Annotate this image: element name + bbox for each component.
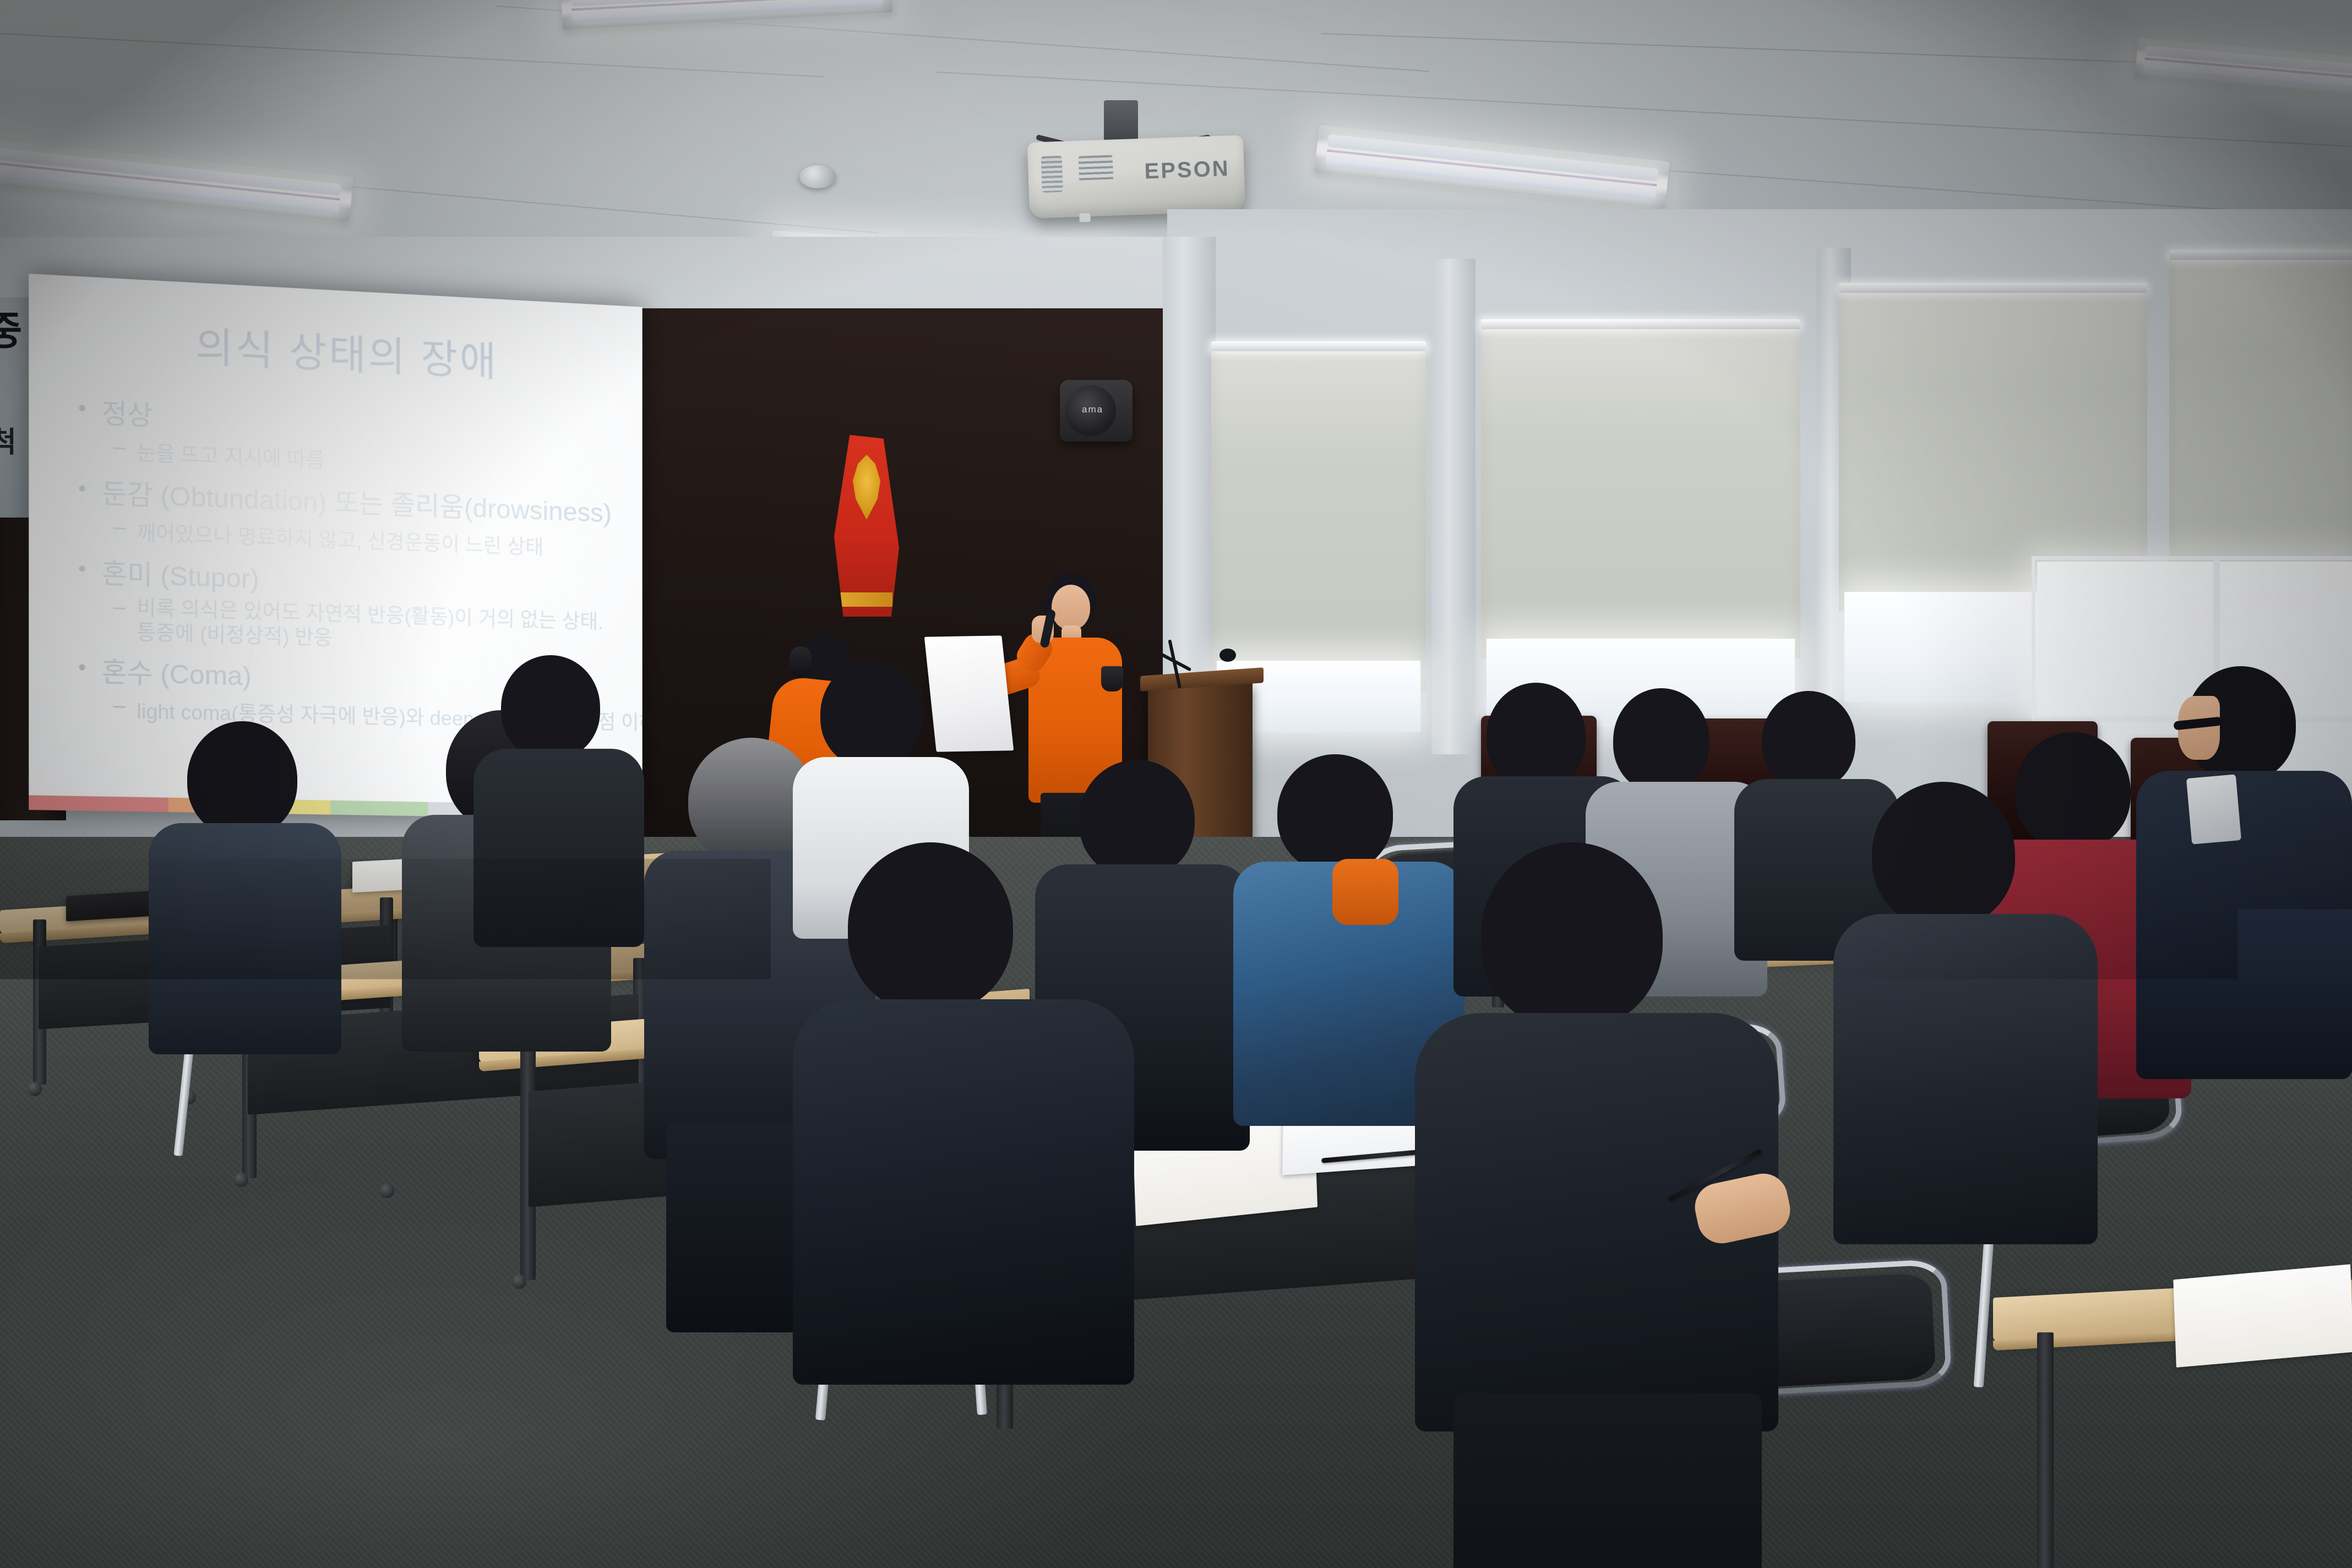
wall-pillar <box>1431 259 1476 754</box>
attendee-head <box>1613 688 1709 793</box>
flag-band <box>840 592 892 607</box>
projector-mount <box>1104 100 1138 141</box>
table-caster[interactable] <box>28 1082 42 1096</box>
attendee-head <box>1762 691 1855 790</box>
window-blind[interactable] <box>2169 259 2352 567</box>
dress-shirt-collar <box>2186 774 2241 844</box>
paper-on-desk[interactable] <box>2173 1264 2352 1368</box>
window-blind[interactable] <box>1481 328 1800 658</box>
attendee-head <box>820 661 922 768</box>
projector-vent-icon <box>1079 155 1114 181</box>
blind-headrail[interactable] <box>1839 283 2147 293</box>
table-caster[interactable] <box>234 1173 248 1187</box>
attendee-head <box>1277 754 1393 873</box>
speaker-brand-label: ama <box>1082 404 1103 415</box>
table-caster[interactable] <box>512 1275 526 1289</box>
slide-title: 의식 상태의 장애 <box>64 307 622 394</box>
attendee-torso <box>149 823 341 1054</box>
attendee-torso <box>2136 771 2352 1079</box>
attendee-head <box>501 655 600 760</box>
attendee-head <box>1481 842 1663 1030</box>
projector-lens-icon <box>1041 156 1063 193</box>
table-leg <box>2037 1332 2054 1568</box>
assistant-ponytail <box>790 646 812 678</box>
blind-headrail[interactable] <box>1481 319 1800 329</box>
attendee-head <box>1872 782 2015 928</box>
podium-microphone-head-icon <box>1219 649 1236 662</box>
projector: EPSON <box>1027 135 1246 219</box>
blind-headrail[interactable] <box>2169 250 2352 260</box>
instructor-handout-paper[interactable] <box>924 635 1014 752</box>
flag-emblem-icon <box>848 455 885 520</box>
attendee-lower-body <box>1453 1393 1762 1568</box>
attendee-torso <box>473 749 644 947</box>
attendee-head <box>2015 732 2131 851</box>
wall-speaker: ama <box>1060 380 1133 442</box>
attendee-torso <box>793 999 1134 1385</box>
uniform-shoulder-patch-icon <box>1101 666 1123 692</box>
attendee-vest-shoulder <box>1332 859 1398 925</box>
window-blind[interactable] <box>1211 350 1426 692</box>
attendee-head <box>1487 683 1586 790</box>
instructor-face <box>1052 585 1090 630</box>
smoke-detector-icon <box>799 165 836 188</box>
attendee-head <box>187 721 297 837</box>
projector-brand-label: EPSON <box>1144 156 1231 184</box>
attendee-head <box>1079 760 1195 878</box>
classroom-scene: EPSON ama 중 척 의식 상태의 장애 <box>0 0 2352 1568</box>
projector-foot <box>1079 213 1091 222</box>
table-caster[interactable] <box>380 1184 394 1198</box>
blind-headrail[interactable] <box>1211 341 1426 351</box>
attendee-torso <box>1833 914 2098 1244</box>
attendee-head <box>848 842 1013 1013</box>
